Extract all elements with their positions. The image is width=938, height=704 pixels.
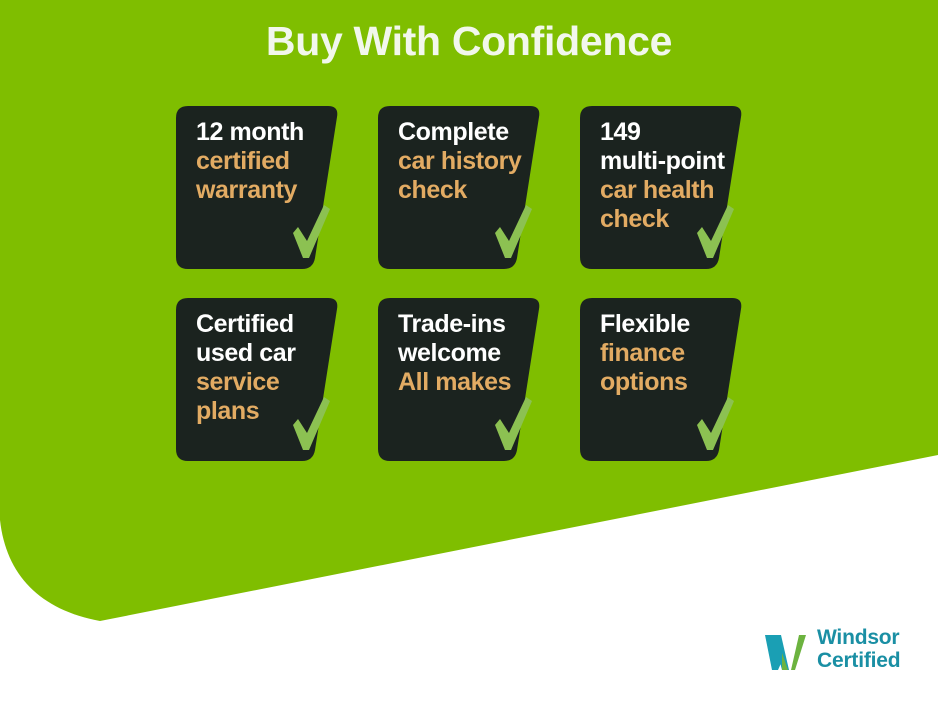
card-line-gold: car health	[600, 176, 741, 205]
card-line-gold: warranty	[196, 176, 337, 205]
card-line-white: welcome	[398, 339, 539, 368]
card-text: Trade-ins welcome All makes	[398, 310, 539, 397]
check-icon	[491, 395, 535, 453]
logo-line-certified: Certified	[817, 650, 900, 673]
windsor-w-icon	[762, 627, 808, 673]
feature-card-trade-ins[interactable]: Trade-ins welcome All makes	[378, 298, 553, 461]
check-icon	[693, 395, 737, 453]
card-line-white: used car	[196, 339, 337, 368]
feature-card-certified-warranty[interactable]: 12 month certified warranty	[176, 106, 351, 269]
card-line-white: Flexible	[600, 310, 741, 339]
buy-with-confidence-banner: Buy With Confidence 12 month certified w…	[0, 0, 938, 704]
card-line-white: Certified	[196, 310, 337, 339]
card-row-bottom: Certified used car service plans Trade-i…	[176, 298, 756, 461]
card-line-gold: options	[600, 368, 741, 397]
feature-card-flexible-finance[interactable]: Flexible finance options	[580, 298, 755, 461]
card-line-gold: All makes	[398, 368, 539, 397]
logo-wordmark: Windsor Certified	[817, 627, 900, 672]
card-line-white: 149	[600, 118, 741, 147]
card-line-white: multi-point	[600, 147, 741, 176]
check-icon	[289, 395, 333, 453]
card-line-gold: service	[196, 368, 337, 397]
card-line-gold: car history	[398, 147, 539, 176]
logo-line-windsor: Windsor	[817, 627, 900, 650]
card-text: Flexible finance options	[600, 310, 741, 397]
card-text: 12 month certified warranty	[196, 118, 337, 205]
card-line-white: 12 month	[196, 118, 337, 147]
check-icon	[491, 203, 535, 261]
feature-card-car-history-check[interactable]: Complete car history check	[378, 106, 553, 269]
check-icon	[693, 203, 737, 261]
card-text: Complete car history check	[398, 118, 539, 205]
feature-card-service-plans[interactable]: Certified used car service plans	[176, 298, 351, 461]
check-icon	[289, 203, 333, 261]
page-title: Buy With Confidence	[0, 18, 938, 65]
card-line-white: Complete	[398, 118, 539, 147]
feature-card-car-health-check[interactable]: 149 multi-point car health check	[580, 106, 755, 269]
card-line-gold: check	[398, 176, 539, 205]
card-line-gold: finance	[600, 339, 741, 368]
card-line-white: Trade-ins	[398, 310, 539, 339]
feature-card-grid: 12 month certified warranty Complete car…	[176, 106, 756, 461]
windsor-certified-logo[interactable]: Windsor Certified	[762, 627, 900, 673]
card-row-top: 12 month certified warranty Complete car…	[176, 106, 756, 269]
card-line-gold: certified	[196, 147, 337, 176]
